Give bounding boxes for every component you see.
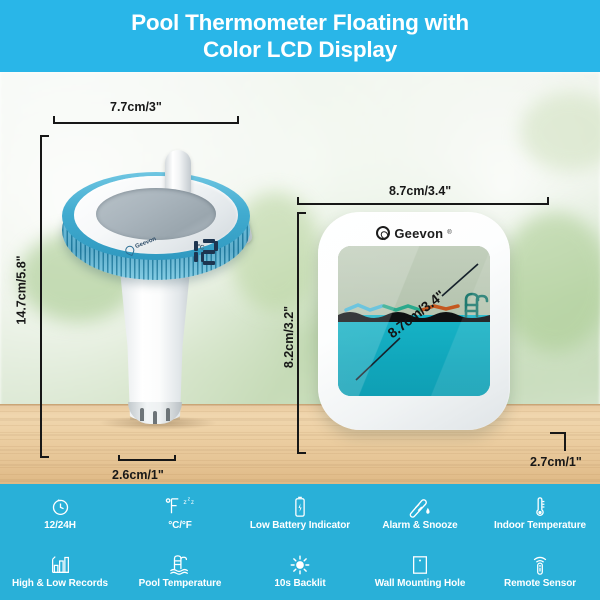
display-unit-product: Geevon ® 8.7cm/3.4" [318, 212, 510, 430]
float-tip-line [118, 459, 176, 461]
feature-label: Alarm & Snooze [382, 520, 457, 531]
brand-droplet-icon [124, 244, 136, 256]
foliage-blob-3 [500, 212, 600, 352]
float-lcd-digits [160, 236, 238, 268]
header-banner: Pool Thermometer Floating with Color LCD… [0, 0, 600, 72]
feature-row-2: High & Low Records Pool Temperature [0, 542, 600, 600]
float-tip-tick-right [174, 455, 176, 461]
display-height-tick-top [297, 212, 306, 214]
float-height-tick-bottom [40, 456, 49, 458]
feature-12-24h[interactable]: 12/24H [0, 496, 120, 531]
feature-label: Remote Sensor [504, 578, 576, 589]
sensor-slot-1 [140, 408, 144, 421]
bar-chart-icon [50, 554, 71, 576]
feature-label: High & Low Records [12, 578, 108, 589]
screen-glare [338, 246, 490, 396]
feature-row-1: 12/24H z z z °C/°F [0, 484, 600, 542]
sensor-slot-2 [153, 411, 157, 424]
display-width-tick-left [297, 197, 299, 205]
float-width-label: 7.7cm/3" [110, 100, 162, 114]
svg-text:z: z [183, 499, 187, 506]
display-height-line [297, 212, 299, 454]
lcd-digit-2 [201, 239, 218, 265]
feature-wall-mount[interactable]: Wall Mounting Hole [360, 554, 480, 589]
header-title-line1: Pool Thermometer Floating with [131, 9, 469, 36]
temperature-unit-icon: z z z [163, 496, 197, 518]
float-height-tick-top [40, 135, 49, 137]
display-width-label: 8.7cm/3.4" [389, 184, 451, 198]
pool-ladder-icon [168, 554, 192, 576]
product-infographic: Pool Thermometer Floating with Color LCD… [0, 0, 600, 600]
float-lcd-screen: Geevon °C [96, 188, 216, 240]
float-height-label: 14.7cm/5.8" [15, 255, 29, 324]
header-title-line2: Color LCD Display [203, 36, 397, 63]
display-depth-line [564, 432, 566, 451]
feature-indoor-temperature[interactable]: Indoor Temperature [480, 496, 600, 531]
clock-icon [50, 496, 71, 518]
lcd-digit-1 [181, 239, 198, 265]
wall-mount-icon [410, 554, 430, 576]
float-height-line [40, 135, 42, 458]
display-depth-label: 2.7cm/1" [530, 455, 582, 469]
feature-label: 10s Backlit [274, 578, 325, 589]
feature-alarm-snooze[interactable]: Alarm & Snooze [360, 496, 480, 531]
display-width-line [297, 203, 549, 205]
brand-logo-icon [376, 226, 390, 240]
feature-pool-temperature[interactable]: Pool Temperature [120, 554, 240, 589]
feature-label: Pool Temperature [139, 578, 222, 589]
feature-label: Wall Mounting Hole [375, 578, 466, 589]
display-unit-brand: Geevon ® [318, 223, 510, 243]
feature-backlit[interactable]: 10s Backlit [240, 554, 360, 589]
feature-celsius-fahrenheit[interactable]: z z z °C/°F [120, 496, 240, 531]
feature-grid: 12/24H z z z °C/°F [0, 484, 600, 600]
battery-icon [293, 496, 307, 518]
feature-label: 12/24H [44, 520, 76, 531]
sensor-slot-3 [166, 408, 170, 421]
alarm-thermometer-icon [407, 496, 433, 518]
float-brand-text: Geevon [135, 236, 158, 250]
thermometer-icon [533, 496, 547, 518]
display-height-tick-bottom [297, 452, 306, 454]
display-unit-brand-text: Geevon [394, 226, 443, 241]
feature-low-battery[interactable]: Low Battery Indicator [240, 496, 360, 531]
feature-label: °C/°F [168, 520, 192, 531]
float-tip-tick-left [118, 455, 120, 461]
float-width-line [53, 122, 239, 124]
feature-label: Indoor Temperature [494, 520, 586, 531]
float-tip-width-label: 2.6cm/1" [112, 468, 164, 482]
floating-thermometer-product: Geevon °C [52, 150, 282, 450]
feature-label: Low Battery Indicator [250, 520, 350, 531]
display-unit-screen: 8.7cm/3.4" [338, 246, 490, 396]
float-width-tick-right [237, 116, 239, 124]
registered-trademark-symbol: ® [447, 230, 451, 236]
svg-text:z: z [188, 497, 191, 503]
brightness-icon [289, 554, 311, 576]
float-width-tick-left [53, 116, 55, 124]
display-height-label: 8.2cm/3.2" [282, 306, 296, 368]
float-unit-symbol: °C [196, 243, 205, 252]
feature-high-low-records[interactable]: High & Low Records [0, 554, 120, 589]
display-width-tick-right [547, 197, 549, 205]
feature-remote-sensor[interactable]: Remote Sensor [480, 554, 600, 589]
svg-text:z: z [191, 500, 194, 506]
remote-sensor-icon [529, 554, 551, 576]
